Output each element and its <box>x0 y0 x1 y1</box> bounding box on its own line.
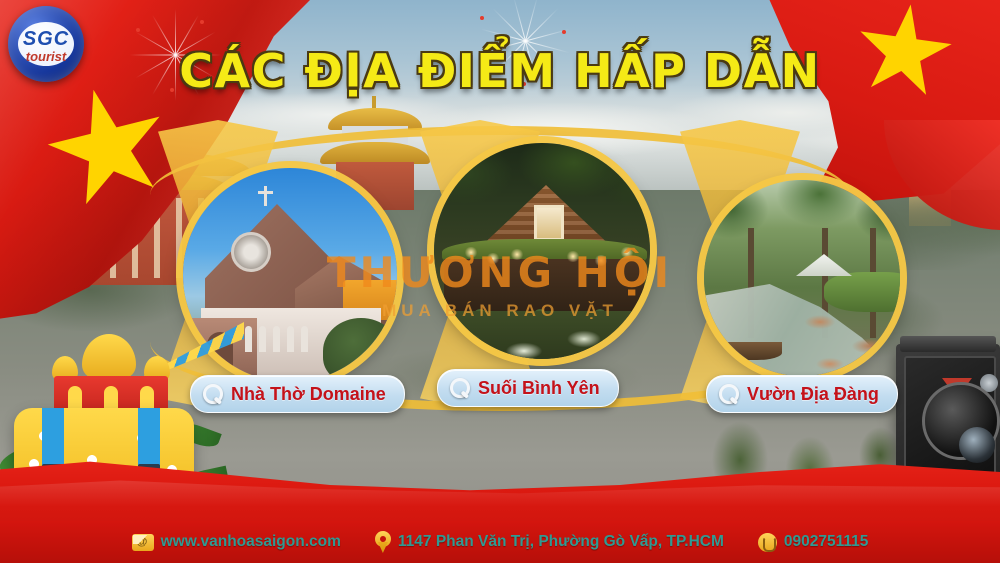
search-icon <box>203 384 223 404</box>
place-label-text: Nhà Thờ Domaine <box>231 384 386 405</box>
place-label-garden[interactable]: Vườn Địa Đàng <box>706 375 898 413</box>
address-text: 1147 Phan Văn Trị, Phường Gò Vấp, TP.HCM <box>398 533 724 551</box>
email-icon: @ <box>132 534 154 551</box>
logo-text-sgc: SGC <box>8 28 84 51</box>
place-label-church[interactable]: Nhà Thờ Domaine <box>190 375 405 413</box>
place-label-cabin[interactable]: Suối Bình Yên <box>437 369 619 407</box>
mosque-illustration <box>46 330 176 416</box>
place-label-text: Suối Bình Yên <box>478 378 600 399</box>
footer-website[interactable]: @ www.vanhoasaigon.com <box>132 533 341 551</box>
sgc-tourist-logo[interactable]: SGC tourist <box>8 6 84 82</box>
website-text: www.vanhoasaigon.com <box>161 533 341 551</box>
search-icon <box>450 378 470 398</box>
phone-text: 0902751115 <box>784 533 869 551</box>
page-title: CÁC ĐỊA ĐIỂM HẤP DẪN <box>0 44 1000 98</box>
logo-text-tourist: tourist <box>8 49 84 64</box>
footer-address[interactable]: 1147 Phan Văn Trị, Phường Gò Vấp, TP.HCM <box>375 531 724 553</box>
place-photo-cabin[interactable] <box>434 143 650 359</box>
place-photo-garden[interactable] <box>704 180 900 376</box>
travel-poster: CÁC ĐỊA ĐIỂM HẤP DẪN <box>0 0 1000 563</box>
footer-contact-bar: @ www.vanhoasaigon.com 1147 Phan Văn Trị… <box>0 525 1000 559</box>
search-icon <box>719 384 739 404</box>
location-pin-icon <box>375 531 391 553</box>
footer-phone[interactable]: 0902751115 <box>758 533 869 552</box>
place-label-text: Vườn Địa Đàng <box>747 384 879 405</box>
phone-icon <box>758 533 777 552</box>
